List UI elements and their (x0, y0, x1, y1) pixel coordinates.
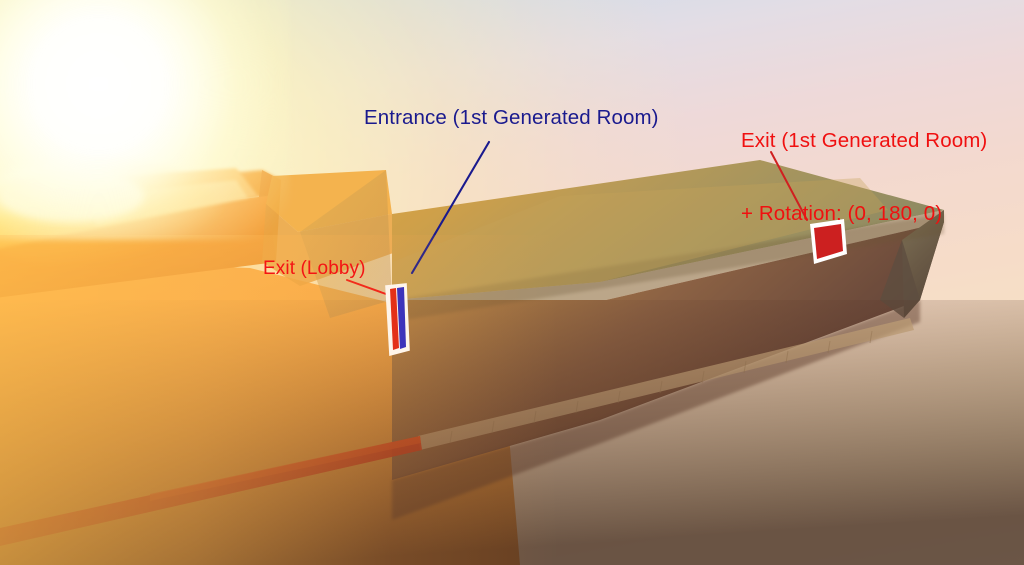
annotation-label-exit-generated-room-line2: + Rotation: (0, 180, 0) (741, 202, 987, 226)
viewport-3d-scene: Entrance (1st Generated Room) Exit (1st … (0, 0, 1024, 565)
sun-icon (0, 0, 290, 240)
annotation-label-exit-lobby: Exit (Lobby) (263, 258, 366, 280)
annotation-label-exit-generated-room: Exit (1st Generated Room) + Rotation: (0… (741, 81, 987, 275)
annotation-label-entrance: Entrance (1st Generated Room) (364, 106, 659, 130)
annotation-label-exit-generated-room-line1: Exit (1st Generated Room) (741, 129, 987, 153)
left-ground-warm-wash (0, 235, 560, 565)
